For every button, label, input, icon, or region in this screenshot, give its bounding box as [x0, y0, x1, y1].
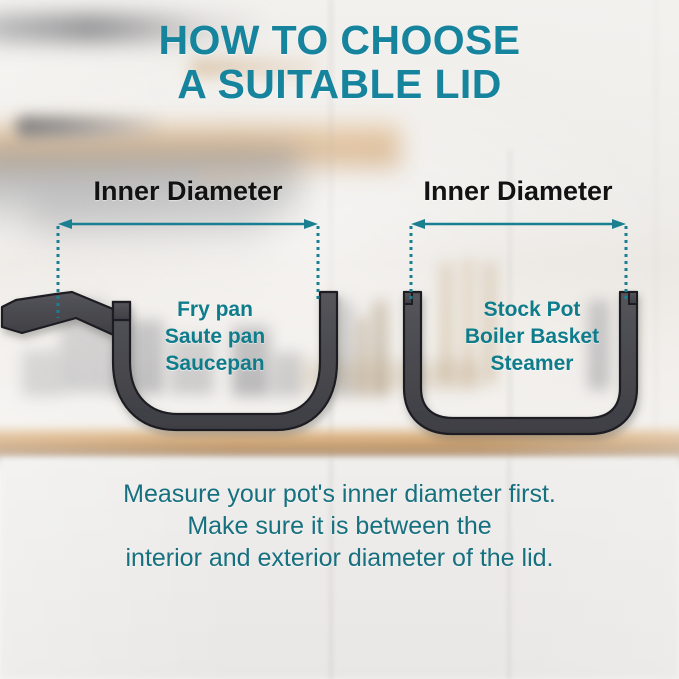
caption-inner-diameter-left: Inner Diameter	[58, 176, 318, 206]
infographic-canvas: HOW TO CHOOSE A SUITABLE LID Inner Diame…	[0, 0, 679, 679]
page-title: HOW TO CHOOSE A SUITABLE LID	[0, 18, 679, 106]
caption-inner-diameter-right: Inner Diameter	[400, 176, 636, 206]
cookware-label-left: Fry pan Saute pan Saucepan	[120, 296, 310, 377]
instruction-text: Measure your pot's inner diameter first.…	[40, 478, 639, 574]
cookware-label-right: Stock Pot Boiler Basket Steamer	[437, 296, 627, 377]
